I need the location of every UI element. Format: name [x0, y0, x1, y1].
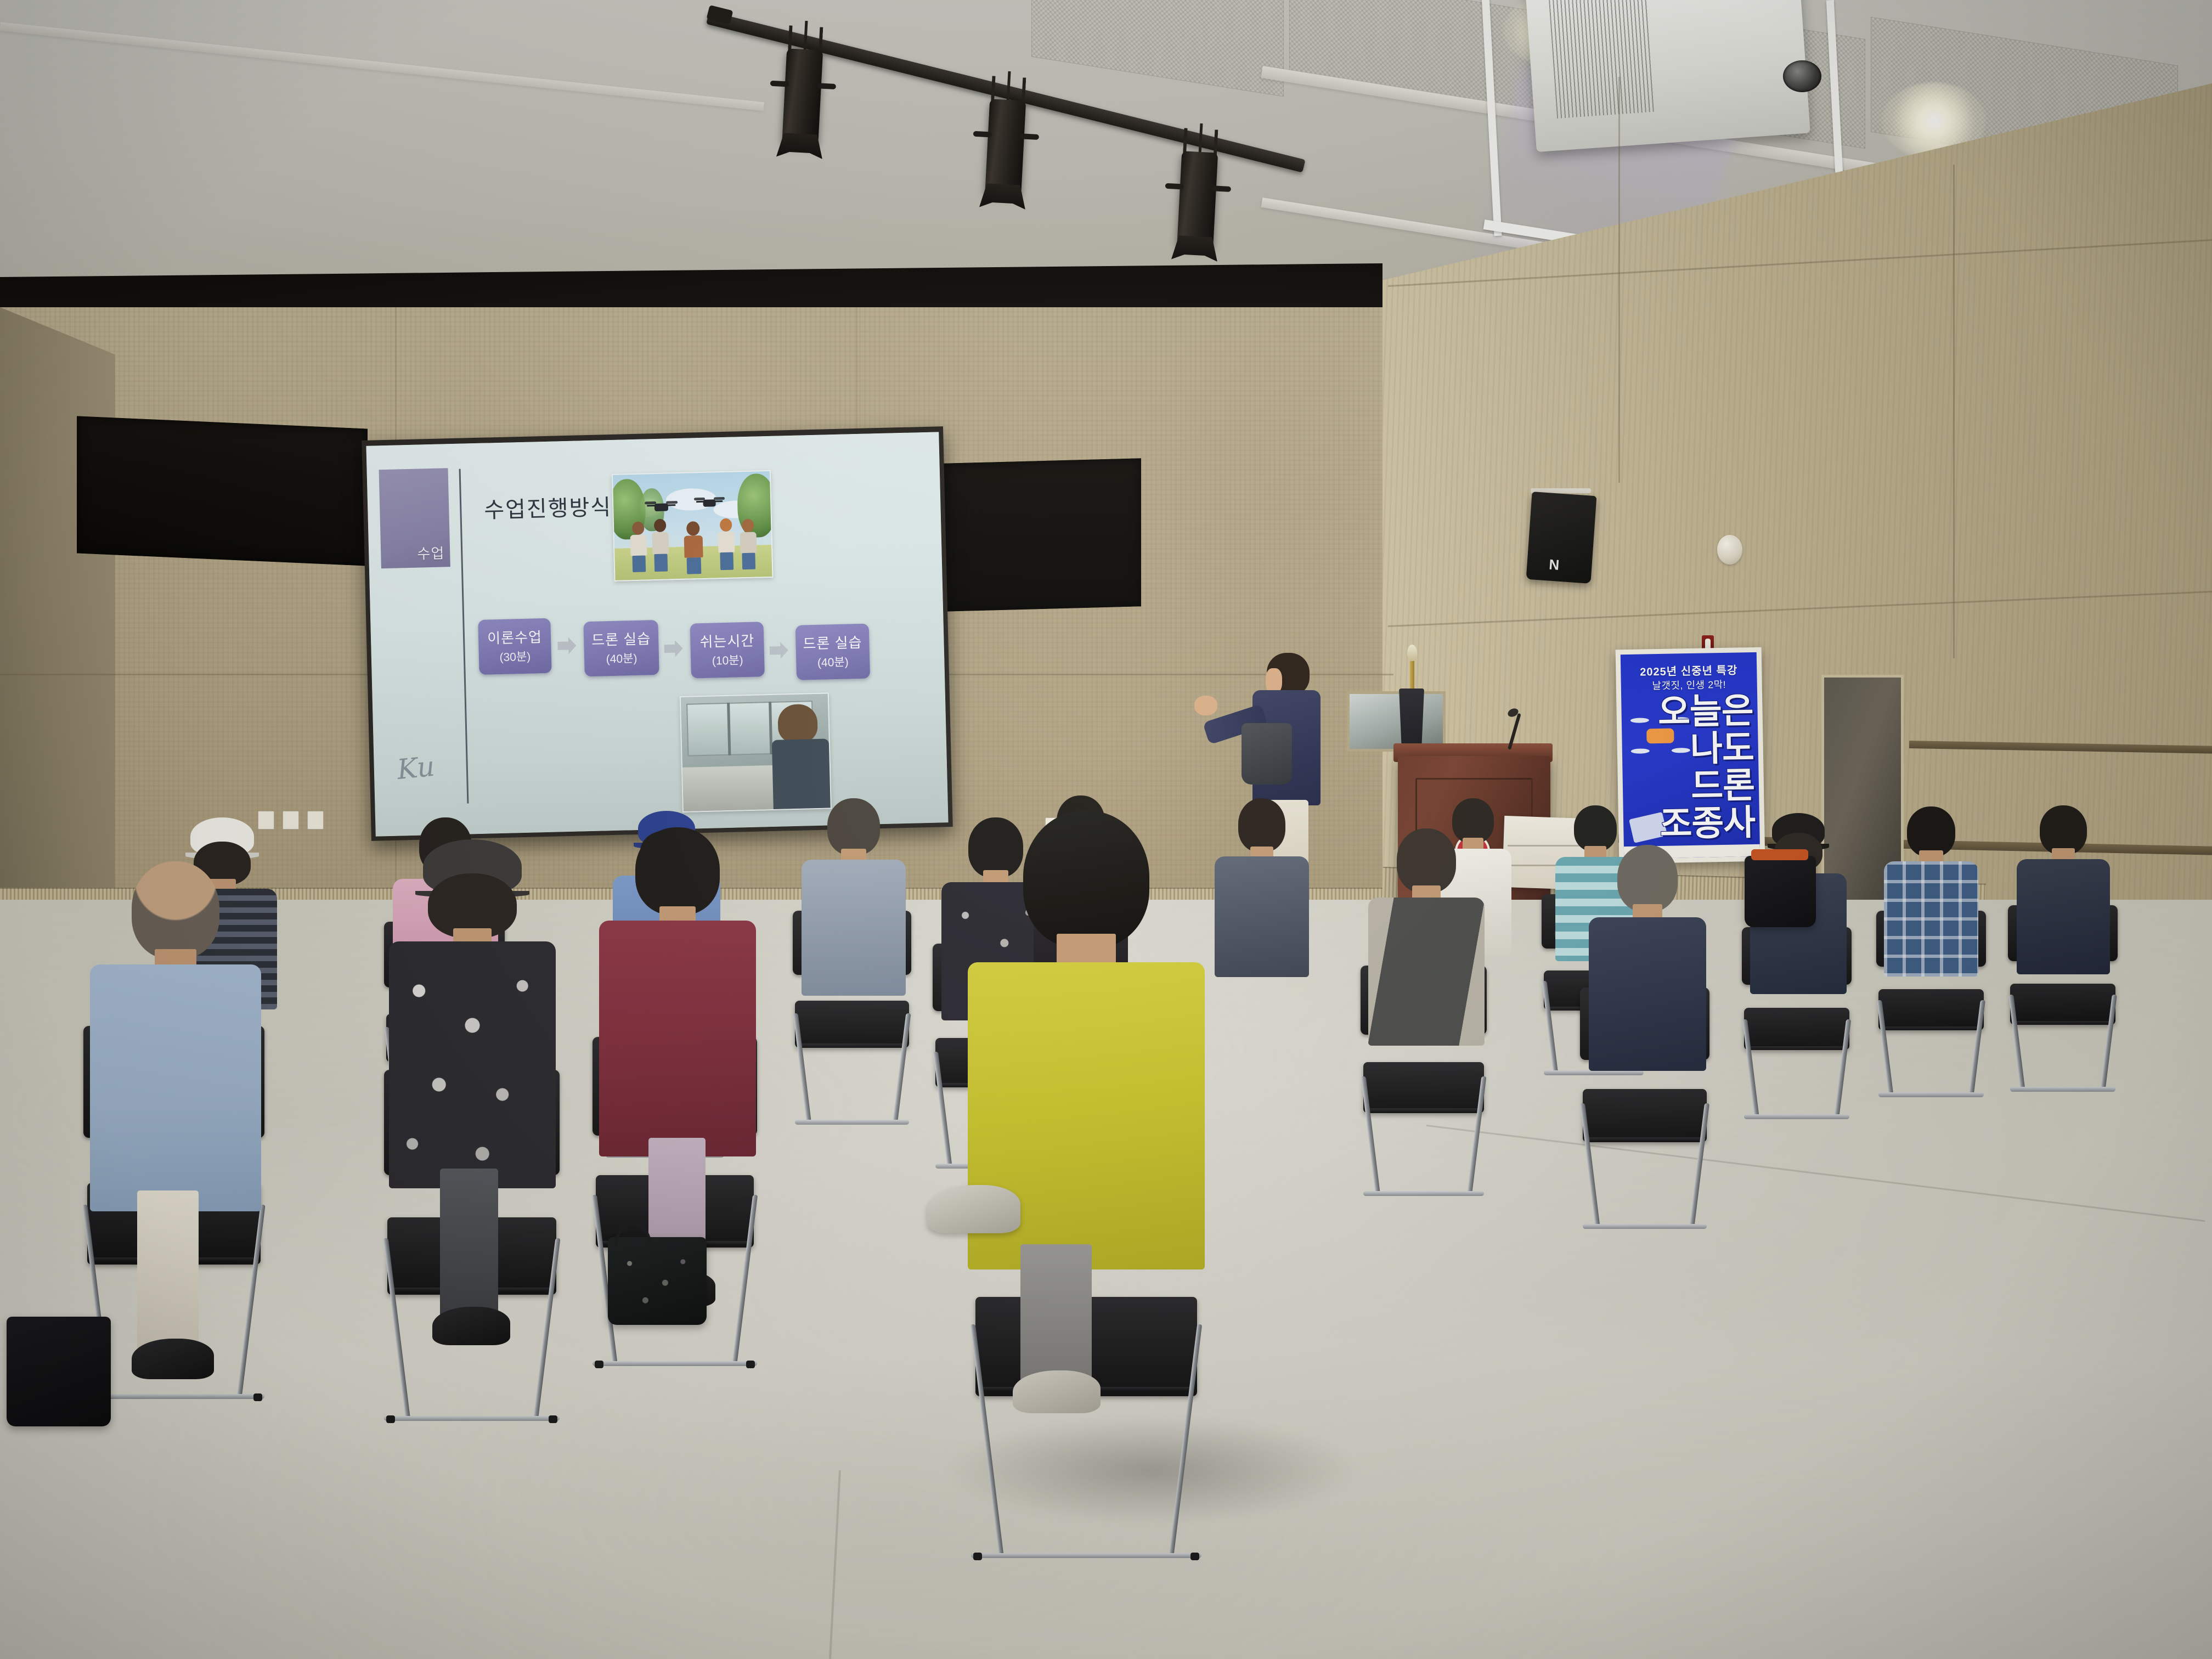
illustration-person — [650, 518, 671, 572]
attendee-shoe — [432, 1307, 510, 1345]
spotlight-knob — [1212, 185, 1231, 192]
spotlight-body — [985, 99, 1026, 195]
slide-logo: Ku — [396, 751, 436, 786]
flow-step-duration: (40분) — [606, 650, 637, 668]
flow-arrow-icon — [769, 641, 788, 660]
attendee-leg — [440, 1169, 498, 1317]
spotlight-knob — [817, 83, 836, 89]
attendee-torso — [802, 860, 906, 996]
chair-rail — [1365, 1108, 1482, 1112]
chair-foot-rail — [971, 1553, 1201, 1558]
chair-foot-rail — [1583, 1224, 1707, 1229]
service-window — [1347, 691, 1446, 752]
flow-step-label: 드론 실습 — [803, 632, 862, 655]
spotlight-body — [782, 48, 823, 144]
projector-lens — [1783, 60, 1821, 92]
attendee-torso — [1368, 898, 1485, 1046]
illustration-person — [716, 518, 737, 570]
banner-headline-line: 오늘은 — [1657, 693, 1753, 730]
attendee-head — [1397, 828, 1456, 893]
spotlight-knob — [1020, 133, 1039, 140]
wall-seam — [1953, 165, 1955, 658]
attendee-head — [635, 827, 720, 915]
banner-headline-line: 드론 — [1691, 768, 1755, 804]
attendee-leg — [137, 1190, 199, 1350]
attendee-torso — [2017, 859, 2110, 974]
presentation-slide: 수업 수업진행방식 — [366, 432, 948, 836]
slide-illustration-image — [612, 470, 774, 582]
wall-outlet[interactable] — [283, 811, 299, 830]
presenter-hand — [1194, 696, 1217, 715]
left-wall — [0, 307, 115, 900]
chair-foot-tip — [1190, 1553, 1199, 1560]
attendee — [799, 798, 909, 1012]
attendee-head — [1907, 806, 1955, 857]
wall-speaker: N — [1526, 492, 1597, 584]
illustration-drone — [644, 494, 679, 517]
person-body — [740, 532, 757, 554]
person-body — [684, 535, 703, 558]
stage-spotlight — [974, 70, 1037, 221]
slide-sidebar-block: 수업 — [379, 468, 450, 568]
person-head — [686, 521, 700, 536]
chair-foot-rail — [592, 1361, 757, 1366]
flow-step-label: 이론수업 — [487, 627, 543, 649]
banner-drone-propeller — [1672, 748, 1690, 753]
attendee-torso — [1589, 917, 1706, 1071]
slide-workshop-image — [680, 692, 832, 812]
attendee-head — [1238, 798, 1285, 852]
attendee-foreground — [966, 811, 1207, 1425]
attendee-torso — [1884, 861, 1978, 977]
attendee — [2015, 805, 2112, 992]
attendee-torso — [90, 964, 261, 1211]
person-head — [720, 518, 732, 532]
wall-outlet[interactable] — [307, 811, 324, 830]
flow-step-duration: (30분) — [499, 648, 531, 666]
chair-seat — [1878, 989, 1984, 1030]
attendee-head — [1023, 811, 1149, 948]
floor-bag[interactable] — [608, 1237, 707, 1325]
attendee-shoe — [1013, 1370, 1101, 1413]
banner-headline-line: 나도 — [1690, 730, 1754, 767]
attendee — [1366, 828, 1487, 1064]
illustration-person — [682, 521, 705, 574]
flow-arrow-icon — [664, 639, 683, 658]
flag-finial — [1407, 645, 1417, 661]
attendee — [1212, 798, 1311, 979]
slide-divider — [459, 469, 469, 804]
attendee-head — [827, 798, 880, 855]
chair-rail — [2012, 1021, 2113, 1025]
attendee-head — [132, 861, 219, 959]
attendee-torso — [599, 921, 756, 1156]
projector-cable — [1520, 0, 1558, 66]
chair-foot-rail — [2010, 1087, 2115, 1092]
flow-step-label: 쉬는시간 — [699, 630, 755, 652]
drone-rotor — [666, 501, 678, 504]
person-legs — [632, 555, 646, 572]
slide-sidebar-label: 수업 — [417, 542, 445, 563]
event-banner: 2025년 신중년 특강 날갯짓, 인생 2막! 오늘은 나도 드론 조종사 — [1621, 652, 1760, 859]
chair-foot-tip — [973, 1553, 982, 1560]
chair-seat — [1744, 1008, 1849, 1050]
projector-cable — [1805, 0, 1854, 55]
stage-spotlight — [1166, 122, 1229, 273]
speaker-brand-logo: N — [1548, 556, 1559, 574]
flow-step-box: 드론 실습 (40분) — [583, 620, 659, 676]
person-head — [742, 519, 754, 533]
flow-step-label: 드론 실습 — [591, 628, 651, 651]
stage-spotlight — [771, 19, 834, 170]
attendee — [1882, 806, 1980, 993]
floor-bag[interactable] — [7, 1317, 111, 1426]
floor-backpack[interactable] — [1745, 856, 1816, 927]
attendee-leg — [1020, 1244, 1092, 1381]
attendee-sneaker — [927, 1185, 1020, 1233]
banner-drone-propeller — [1631, 748, 1650, 754]
person-body — [718, 532, 735, 553]
chair-rail — [1585, 1137, 1704, 1141]
attendee-torso — [1215, 856, 1309, 977]
flow-step-box: 쉬는시간 (10분) — [690, 622, 765, 678]
person-legs — [720, 552, 733, 571]
chair-foot-rail — [384, 1416, 560, 1421]
attendee — [1587, 845, 1708, 1086]
person-head — [654, 519, 667, 533]
spotlight-barndoor — [776, 133, 823, 159]
illustration-person — [628, 521, 649, 572]
attendee-shoe — [132, 1339, 214, 1379]
drone-body — [703, 500, 715, 507]
chair-foot-rail — [1878, 1092, 1984, 1097]
attendee — [387, 839, 557, 1372]
attendee-torso — [389, 941, 556, 1188]
spotlight-body — [1177, 151, 1218, 247]
flow-step-box: 이론수업 (30분) — [478, 618, 551, 675]
chair-foot-tip — [746, 1361, 755, 1368]
lecture-hall-photo: N 수업 수업진행방식 — [0, 0, 2212, 1659]
projection-screen: 수업 수업진행방식 — [366, 432, 948, 836]
illustration-drone — [693, 491, 726, 512]
flow-step-duration: (10분) — [712, 652, 743, 670]
banner-headline-line: 조종사 — [1660, 805, 1756, 842]
backpack-strap — [1751, 849, 1808, 860]
chair-foot-rail — [795, 1120, 909, 1125]
spotlight-barndoor — [979, 183, 1026, 210]
drone-body — [654, 503, 668, 511]
acoustic-panel — [77, 416, 368, 566]
person-legs — [687, 557, 702, 574]
banner-drone-propeller — [1630, 718, 1649, 723]
chair-rail — [1881, 1026, 1982, 1030]
chair-foot-rail — [1744, 1114, 1849, 1119]
chair-foot-tip — [549, 1415, 557, 1423]
chair-rail — [798, 1043, 907, 1047]
presenter-shoulder-bag — [1242, 723, 1292, 785]
acoustic-panel — [944, 458, 1141, 611]
chair-foot-tip — [595, 1361, 603, 1368]
wall-seam — [1618, 77, 1620, 483]
person-head — [632, 522, 645, 535]
spotlight-knob — [1165, 183, 1184, 190]
flow-step-box: 드론 실습 (40분) — [795, 624, 870, 680]
chair-seat — [1363, 1062, 1485, 1113]
drone-rotor — [714, 497, 725, 500]
person-body — [652, 532, 669, 554]
flow-arrow-icon — [557, 636, 577, 656]
chair-foot-rail — [1363, 1191, 1485, 1196]
attendee-head — [1617, 845, 1678, 912]
workshop-person-head — [777, 704, 818, 743]
person-legs — [654, 554, 668, 572]
spotlight-knob — [770, 81, 789, 87]
flow-step-duration: (40분) — [817, 653, 849, 672]
person-body — [630, 534, 647, 556]
spotlight-barndoor — [1171, 235, 1218, 262]
illustration-person — [738, 518, 759, 569]
chair-rail — [1746, 1046, 1847, 1050]
slide-title: 수업진행방식 — [484, 489, 612, 524]
wall-sensor — [1717, 535, 1742, 565]
spotlight-knob — [973, 131, 992, 138]
attendee-head — [2040, 805, 2087, 855]
chair-foot-tip — [386, 1415, 395, 1423]
person-legs — [742, 553, 755, 570]
projector-vent — [1548, 0, 1656, 119]
chair-seat — [1583, 1089, 1707, 1142]
attendee — [88, 861, 263, 1399]
